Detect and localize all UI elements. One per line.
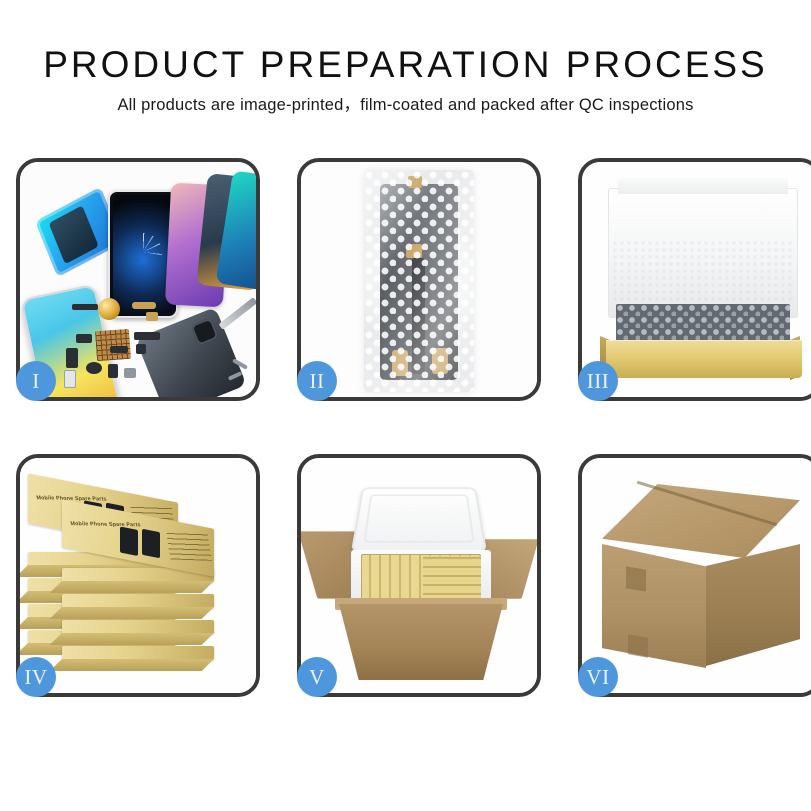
step-panel-6[interactable]: VI	[578, 454, 811, 697]
part-icon	[132, 302, 156, 309]
gold-box-icon	[62, 594, 214, 608]
step-image-3	[582, 162, 811, 397]
foam-lid-icon	[351, 487, 487, 552]
part-icon	[72, 304, 98, 310]
gold-boxes-inside-icon	[423, 556, 481, 602]
step-image-1	[20, 162, 256, 397]
step-panel-5[interactable]: V	[297, 454, 541, 697]
part-icon	[136, 344, 146, 354]
page-subtitle: All products are image-printed，film-coat…	[117, 97, 693, 114]
gold-box-icon	[62, 620, 214, 634]
carton-body-icon	[339, 604, 503, 680]
step-badge-4: IV	[16, 657, 56, 697]
box-screen-image	[120, 527, 138, 556]
step-panel-3[interactable]: III	[578, 158, 811, 401]
step-image-4: Mobile Phone Spare Parts Mobile Phone Sp…	[20, 458, 256, 693]
page-title: PRODUCT PREPARATION PROCESS	[43, 46, 768, 83]
box-brand-label: Mobile Phone Spare Parts	[70, 521, 141, 528]
tweezers-icon	[219, 297, 256, 330]
gold-box-stack-icon: Mobile Phone Spare Parts Mobile Phone Sp…	[20, 458, 256, 693]
step-badge-1: I	[16, 361, 56, 401]
step-badge-3: III	[578, 361, 618, 401]
page-header: PRODUCT PREPARATION PROCESS All products…	[0, 0, 811, 140]
box-spec-lines	[166, 531, 212, 561]
gold-box-icon	[62, 646, 214, 660]
part-icon	[146, 312, 158, 321]
step-image-2	[301, 162, 537, 397]
carton-side-face	[706, 544, 800, 666]
step-image-5	[301, 458, 537, 693]
step-panel-1[interactable]: I	[16, 158, 260, 401]
box-screen-image	[142, 529, 160, 558]
part-icon	[66, 348, 78, 368]
speaker-module-icon	[98, 298, 120, 320]
part-icon	[86, 362, 102, 374]
part-icon	[124, 368, 136, 378]
step-badge-6: VI	[578, 657, 618, 697]
step-panel-2[interactable]: II	[297, 158, 541, 401]
step-badge-2: II	[297, 361, 337, 401]
process-step-grid: I II III	[16, 158, 800, 738]
plastic-sheen	[364, 170, 474, 392]
chip-grid-icon	[95, 329, 131, 361]
step-panel-4[interactable]: Mobile Phone Spare Parts Mobile Phone Sp…	[16, 454, 260, 697]
part-icon	[108, 364, 118, 378]
gold-box-front-icon	[606, 340, 802, 378]
carton-front-face	[602, 544, 706, 668]
bubble-wrapped-contents-icon	[616, 304, 790, 344]
bubble-wrap-bag-icon	[364, 170, 474, 392]
part-icon	[64, 370, 76, 388]
carton-tape-patch	[628, 634, 648, 658]
part-icon	[110, 346, 128, 353]
foam-insert-icon	[612, 240, 794, 302]
step-image-6	[582, 458, 811, 693]
part-icon	[76, 334, 92, 343]
part-icon	[134, 332, 160, 340]
carton-tape-patch	[626, 566, 646, 592]
step-badge-5: V	[297, 657, 337, 697]
